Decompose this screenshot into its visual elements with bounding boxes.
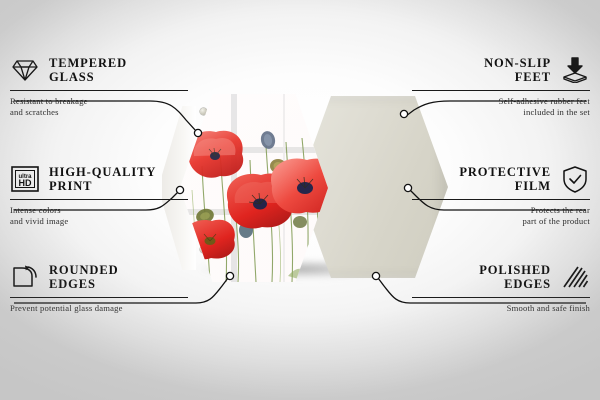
feature-rule xyxy=(10,90,188,91)
feature-rule xyxy=(412,90,590,91)
feature-title: ROUNDED EDGES xyxy=(49,263,119,292)
feature-title-line1: PROTECTIVE xyxy=(459,165,551,179)
shield-check-icon xyxy=(560,164,590,194)
feature-title-line1: TEMPERED xyxy=(49,56,127,70)
feature-title-line2: FEET xyxy=(515,70,551,84)
feature-title-line1: POLISHED xyxy=(479,263,551,277)
feature-title: PROTECTIVE FILM xyxy=(459,165,551,194)
feature-polished-edges[interactable]: POLISHED EDGES Smooth and safe finish xyxy=(412,262,590,314)
feature-title-line1: HIGH-QUALITY xyxy=(49,165,156,179)
feature-rule xyxy=(412,199,590,200)
feature-non-slip-feet[interactable]: NON-SLIP FEET Self-adhesive rubber feet … xyxy=(412,55,590,118)
poppy-artwork xyxy=(180,94,328,282)
feature-desc-line1: Resistant to breakage xyxy=(10,96,88,106)
feature-desc-line2: included in the set xyxy=(523,107,590,117)
feature-desc-line1: Smooth and safe finish xyxy=(507,303,590,313)
product-front-board xyxy=(180,94,328,282)
feature-description: Prevent potential glass damage xyxy=(10,303,188,314)
feature-title-line2: EDGES xyxy=(49,277,96,291)
feature-desc-line1: Self-adhesive rubber feet xyxy=(499,96,590,106)
feature-description: Resistant to breakage and scratches xyxy=(10,96,188,118)
feature-title-line1: ROUNDED xyxy=(49,263,119,277)
feature-title: NON-SLIP FEET xyxy=(484,56,551,85)
feature-rule xyxy=(412,297,590,298)
feature-desc-line2: and vivid image xyxy=(10,216,68,226)
feature-desc-line1: Protects the rear xyxy=(531,205,590,215)
product-image xyxy=(158,88,448,293)
feature-desc-line1: Intense colors xyxy=(10,205,61,215)
feature-title-line2: PRINT xyxy=(49,179,92,193)
feature-desc-line1: Prevent potential glass damage xyxy=(10,303,123,313)
diamond-icon xyxy=(10,55,40,85)
feature-title: POLISHED EDGES xyxy=(479,263,551,292)
press-down-pad-icon xyxy=(560,55,590,85)
feature-heading-row: TEMPERED GLASS xyxy=(10,55,188,85)
feature-rule xyxy=(10,297,188,298)
feature-desc-line2: and scratches xyxy=(10,107,59,117)
feature-title-line2: GLASS xyxy=(49,70,95,84)
hatch-lines-icon xyxy=(560,262,590,292)
rounded-corner-icon xyxy=(10,262,40,292)
feature-high-quality-print[interactable]: ultra HD HIGH-QUALITY PRINT Intense colo… xyxy=(10,164,188,227)
ultra-hd-icon: ultra HD xyxy=(10,164,40,194)
feature-description: Smooth and safe finish xyxy=(412,303,590,314)
feature-description: Intense colors and vivid image xyxy=(10,205,188,227)
feature-heading-row: ROUNDED EDGES xyxy=(10,262,188,292)
svg-text:HD: HD xyxy=(19,178,32,188)
feature-heading-row: PROTECTIVE FILM xyxy=(412,164,590,194)
infographic-canvas: TEMPERED GLASS Resistant to breakage and… xyxy=(0,0,600,400)
feature-title: TEMPERED GLASS xyxy=(49,56,127,85)
feature-protective-film[interactable]: PROTECTIVE FILM Protects the rear part o… xyxy=(412,164,590,227)
feature-title-line1: NON-SLIP xyxy=(484,56,551,70)
feature-rule xyxy=(10,199,188,200)
feature-rounded-edges[interactable]: ROUNDED EDGES Prevent potential glass da… xyxy=(10,262,188,314)
feature-title-line2: FILM xyxy=(515,179,551,193)
feature-tempered-glass[interactable]: TEMPERED GLASS Resistant to breakage and… xyxy=(10,55,188,118)
feature-title: HIGH-QUALITY PRINT xyxy=(49,165,156,194)
feature-description: Protects the rear part of the product xyxy=(412,205,590,227)
feature-description: Self-adhesive rubber feet included in th… xyxy=(412,96,590,118)
feature-desc-line2: part of the product xyxy=(522,216,590,226)
feature-title-line2: EDGES xyxy=(504,277,551,291)
feature-heading-row: NON-SLIP FEET xyxy=(412,55,590,85)
feature-heading-row: ultra HD HIGH-QUALITY PRINT xyxy=(10,164,188,194)
feature-heading-row: POLISHED EDGES xyxy=(412,262,590,292)
